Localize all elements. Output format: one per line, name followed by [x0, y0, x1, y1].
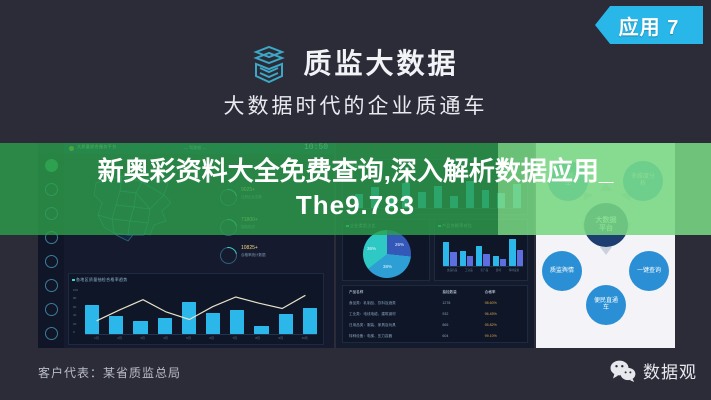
sidebar-item-quality[interactable]	[45, 207, 58, 220]
sidebar-item-datacenter[interactable]	[45, 279, 58, 292]
header: 质监大数据 大数据时代的企业质通车	[0, 44, 711, 117]
node-hub-bigdata-platform[interactable]: 大数据 平台	[584, 203, 628, 247]
x-tick: 特种设备	[509, 268, 519, 272]
x-tick: 工业品	[465, 268, 473, 272]
x-tick: 5月	[186, 336, 191, 340]
table-row: 特种设备：电梯、压力容器 604 99.10%	[343, 334, 527, 339]
sidebar-item-supervision[interactable]	[45, 231, 58, 244]
trend-x-ticks: 1月2月3月4月5月6月7月8月9月10月	[85, 336, 317, 340]
y-tick: 80	[73, 296, 78, 300]
chart-card-title: 各地区质量抽检合格率趋势	[76, 277, 128, 283]
node-query[interactable]: 一键查询	[629, 251, 669, 291]
bar	[418, 192, 426, 208]
node-multidim[interactable]: 多维度分 析	[623, 161, 663, 201]
bar	[402, 183, 410, 208]
bar-group	[460, 232, 474, 266]
client-representative-label: 客户代表：某省质监总局	[38, 364, 181, 381]
bar	[517, 250, 523, 266]
bar	[371, 187, 379, 208]
trend-line	[85, 288, 317, 334]
app-badge[interactable]: 应用 7	[595, 6, 703, 44]
chart-card-title: 产品合格率对比	[442, 223, 472, 229]
table-header-cell: 产品名称	[343, 290, 442, 295]
x-tick: 9月	[278, 336, 283, 340]
presentation-photo: 大质量综合服务平台 — 驾驶舱 — 10:50	[38, 143, 675, 348]
node-label: 质监舆情	[550, 268, 574, 275]
table-cell: 日用品类：服装、家具及玩具	[343, 323, 442, 328]
x-tick: 7月	[232, 336, 237, 340]
sidebar-item-home[interactable]	[45, 159, 58, 172]
table-cell: 99.10%	[485, 334, 527, 339]
bar	[476, 246, 482, 266]
header-title-row: 质监大数据	[252, 44, 458, 84]
grouped-bars	[443, 232, 523, 266]
table-cell: 95.82%	[485, 323, 527, 328]
bar-group	[509, 232, 523, 266]
node-enterprise[interactable]: 企业质通 车	[548, 161, 588, 201]
node-convenience[interactable]: 便民直通 车	[586, 285, 626, 325]
kpi-value: 71800+	[241, 217, 258, 223]
table-header-row: 产品名称 抽检数量 合格率	[343, 290, 527, 295]
y-tick: 100	[73, 288, 78, 292]
x-tick: 建材	[496, 268, 501, 272]
bar	[513, 184, 521, 208]
bar	[387, 198, 395, 208]
x-tick: 10月	[301, 336, 307, 340]
table-cell: 604	[442, 334, 484, 339]
table-cell: 865	[442, 323, 484, 328]
chart-card-pie: 企业类型占比 26% 38% 36%	[342, 219, 430, 281]
bar	[509, 239, 515, 266]
dashboard-logo-label: 大质量综合服务平台	[77, 144, 117, 150]
table-cell: 98.60%	[485, 301, 527, 306]
bar	[450, 196, 458, 208]
bar-group	[493, 232, 507, 266]
table-cell: 特种设备：电梯、压力容器	[343, 334, 442, 339]
kpi-label: 合格率统计数据	[241, 253, 266, 258]
bar-group	[476, 232, 490, 266]
bar	[450, 252, 456, 266]
node-label: 企业质通 车	[556, 174, 580, 188]
dashboard-panel-mid: 质量监测指数 企业类型占比 26% 38% 36% 产品合格率对比 食品药品工业…	[336, 143, 534, 348]
dashboard-clock: 10:50	[304, 143, 328, 152]
node-label: 便民直通 车	[594, 298, 618, 312]
kpi-ring-icon	[217, 216, 241, 240]
node-label: 大数据 平台	[596, 217, 617, 233]
kpi-ring-icon	[217, 186, 241, 210]
x-tick: 3月	[140, 336, 145, 340]
sidebar-item-risk[interactable]	[45, 255, 58, 268]
kpi-1: 71800+ 抽检批次	[220, 215, 282, 241]
chart-card-trend: 各地区质量抽检合格率趋势 100 80 60 40 20 0 1月2月3月4月5…	[68, 273, 324, 345]
sidebar-item-settings[interactable]	[45, 327, 58, 340]
x-tick: 4月	[163, 336, 168, 340]
bar	[500, 259, 506, 266]
pie-slice-label-0: 26%	[395, 242, 404, 247]
x-tick: 食品药品	[447, 268, 457, 272]
wechat-icon	[610, 360, 636, 382]
dashboard-panel-right: 企业质通 车 多维度分 析 大数据 平台 质监舆情 一键查询	[536, 143, 675, 348]
bar	[434, 186, 442, 208]
arrow-down-icon	[600, 247, 612, 255]
y-tick: 60	[73, 305, 78, 309]
table-header-cell: 合格率	[485, 290, 527, 295]
bar	[497, 193, 505, 208]
x-tick: 农产品	[480, 268, 488, 272]
sidebar-item-enterprise[interactable]	[45, 183, 58, 196]
chart-x-axis	[443, 266, 523, 267]
chart-card-title: 企业类型占比	[350, 223, 376, 229]
kpi-value: 9025+	[241, 187, 255, 193]
page-subtitle: 大数据时代的企业质通车	[224, 96, 488, 117]
app-badge-label: 应用 7	[619, 11, 680, 40]
data-table-card: 产品名称 抽检数量 合格率 食品类：乳制品、饮料及酒类 1278 98.60% …	[342, 285, 528, 343]
kpi-label: 抽检批次	[241, 225, 255, 230]
bar	[460, 251, 466, 266]
node-label: 一键查询	[637, 268, 661, 275]
table-cell: 1278	[442, 301, 484, 306]
pie-chart	[363, 230, 411, 278]
sidebar-item-reports[interactable]	[45, 303, 58, 316]
bar	[355, 194, 363, 208]
dashboard-panel-left: 大质量综合服务平台 — 驾驶舱 — 10:50	[38, 143, 334, 348]
table-cell: 食品类：乳制品、饮料及酒类	[343, 301, 442, 306]
china-map	[76, 165, 206, 270]
table-cell: 96.45%	[485, 312, 527, 317]
y-tick: 0	[73, 330, 78, 334]
dashboard-topbar: 大质量综合服务平台 — 驾驶舱 — 10:50	[64, 143, 334, 154]
node-sentiment[interactable]: 质监舆情	[542, 251, 582, 291]
x-tick: 6月	[209, 336, 214, 340]
kpi-value: 10825+	[241, 245, 258, 251]
pie-slice-label-1: 38%	[383, 264, 392, 269]
watermark: 数据观	[610, 358, 697, 383]
card-marker	[346, 165, 349, 168]
page-title: 质监大数据	[303, 50, 458, 78]
table-row: 日用品类：服装、家具及玩具 865 95.82%	[343, 323, 527, 328]
bar	[467, 256, 473, 266]
bar	[466, 181, 474, 208]
card-marker	[72, 279, 75, 282]
card-marker	[438, 225, 441, 228]
chart-y-axis: 100 80 60 40 20 0	[73, 288, 78, 334]
node-label: 多维度分 析	[631, 174, 655, 188]
bar-group	[443, 232, 457, 266]
y-tick: 40	[73, 313, 78, 317]
kpi-2: 10825+ 合格率统计数据	[220, 243, 282, 269]
chart-card-title: 质量监测指数	[350, 163, 376, 169]
dashboard-sidebar[interactable]	[38, 153, 64, 348]
table-cell: 932	[442, 312, 484, 317]
dashboard-logo-dot	[69, 146, 74, 151]
dashboard-center-label: — 驾驶舱 —	[184, 145, 206, 151]
kpi-0: 9025+ 注册企业总数	[220, 185, 282, 211]
bar	[482, 190, 490, 208]
table-cell: 工业类：电线电缆、建筑钢材	[343, 312, 442, 317]
kpi-ring-icon	[217, 244, 241, 268]
index-bars	[355, 174, 521, 208]
kpi-label: 注册企业总数	[241, 195, 262, 200]
chart-card-grouped: 产品合格率对比 食品药品工业品农产品建材特种设备	[434, 219, 528, 281]
x-tick: 1月	[94, 336, 99, 340]
node-diagram: 企业质通 车 多维度分 析 大数据 平台 质监舆情 一键查询	[536, 143, 675, 348]
bar	[443, 242, 449, 266]
y-tick: 20	[73, 322, 78, 326]
bar	[483, 254, 489, 266]
bar	[493, 256, 499, 266]
chart-x-axis	[355, 208, 521, 209]
chart-x-axis	[85, 334, 317, 335]
table-header-cell: 抽检数量	[442, 290, 484, 295]
grouped-x-ticks: 食品药品工业品农产品建材特种设备	[443, 268, 523, 272]
watermark-label: 数据观	[643, 358, 697, 383]
arrow-up-icon	[600, 183, 612, 191]
x-tick: 8月	[255, 336, 260, 340]
pie-slice-label-2: 36%	[367, 246, 376, 251]
table-row: 工业类：电线电缆、建筑钢材 932 96.45%	[343, 312, 527, 317]
table-row: 食品类：乳制品、饮料及酒类 1278 98.60%	[343, 301, 527, 306]
chart-card-index: 质量监测指数	[342, 159, 528, 215]
card-marker	[346, 225, 349, 228]
stacked-book-icon	[252, 44, 286, 84]
x-tick: 2月	[117, 336, 122, 340]
